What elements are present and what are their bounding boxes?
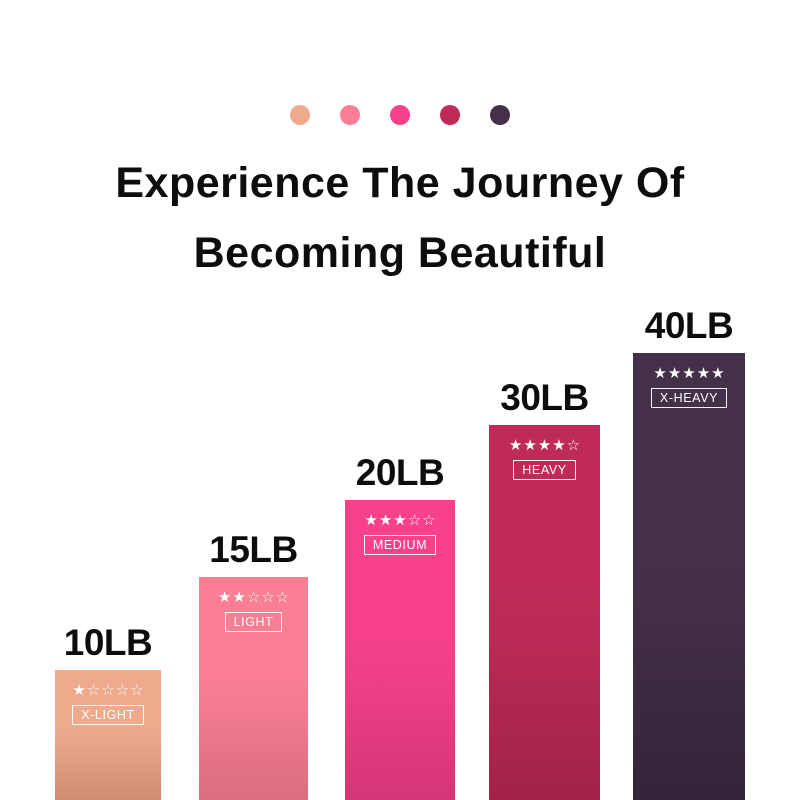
bar-20lb[interactable]: ★★★☆☆MEDIUM (345, 500, 455, 800)
resistance-bar-chart: 10LB★☆☆☆☆X-LIGHT15LB★★☆☆☆LIGHT20LB★★★☆☆M… (0, 280, 800, 800)
star-filled-icon: ★ (379, 513, 392, 528)
resistance-level-badge: HEAVY (513, 460, 575, 480)
star-filled-icon: ★ (364, 513, 377, 528)
star-empty-icon: ☆ (422, 513, 435, 528)
star-empty-icon: ☆ (101, 683, 114, 698)
star-empty-icon: ☆ (567, 438, 580, 453)
star-rating: ★☆☆☆☆ (72, 683, 143, 698)
bar-30lb[interactable]: ★★★★☆HEAVY (489, 425, 600, 800)
page-title-line-2: Becoming Beautiful (0, 218, 800, 288)
page-title-line-1: Experience The Journey Of (0, 148, 800, 218)
star-rating: ★★★☆☆ (364, 513, 435, 528)
star-filled-icon: ★ (509, 438, 522, 453)
bar-weight-label: 20LB (356, 454, 444, 492)
star-filled-icon: ★ (711, 366, 724, 381)
star-filled-icon: ★ (697, 366, 710, 381)
star-filled-icon: ★ (552, 438, 565, 453)
bar-column-30lb[interactable]: 30LB★★★★☆HEAVY (489, 379, 600, 800)
bar-content: ★★★☆☆MEDIUM (345, 500, 455, 555)
star-filled-icon: ★ (538, 438, 551, 453)
star-empty-icon: ☆ (261, 590, 274, 605)
page-title: Experience The Journey Of Becoming Beaut… (0, 148, 800, 288)
star-filled-icon: ★ (523, 438, 536, 453)
bar-weight-label: 15LB (209, 531, 297, 569)
star-filled-icon: ★ (232, 590, 245, 605)
bar-column-40lb[interactable]: 40LB★★★★★X-HEAVY (633, 307, 745, 800)
poster-root: Experience The Journey Of Becoming Beaut… (0, 0, 800, 800)
star-empty-icon: ☆ (87, 683, 100, 698)
star-filled-icon: ★ (72, 683, 85, 698)
bar-weight-label: 30LB (500, 379, 588, 417)
bar-content: ★★★★☆HEAVY (489, 425, 600, 480)
star-empty-icon: ☆ (276, 590, 289, 605)
decorative-dot-4 (440, 105, 460, 125)
star-empty-icon: ☆ (247, 590, 260, 605)
bar-weight-label: 40LB (645, 307, 733, 345)
bar-content: ★★☆☆☆LIGHT (199, 577, 308, 632)
bar-bottom-shadow (489, 583, 600, 800)
star-filled-icon: ★ (218, 590, 231, 605)
decorative-dot-1 (290, 105, 310, 125)
bar-bottom-shadow (633, 541, 745, 800)
bar-40lb[interactable]: ★★★★★X-HEAVY (633, 353, 745, 800)
bar-column-10lb[interactable]: 10LB★☆☆☆☆X-LIGHT (55, 624, 161, 800)
bar-15lb[interactable]: ★★☆☆☆LIGHT (199, 577, 308, 800)
star-rating: ★★★★☆ (509, 438, 580, 453)
star-rating: ★★☆☆☆ (218, 590, 289, 605)
decorative-dot-5 (490, 105, 510, 125)
bar-column-15lb[interactable]: 15LB★★☆☆☆LIGHT (199, 531, 308, 800)
star-filled-icon: ★ (668, 366, 681, 381)
star-filled-icon: ★ (653, 366, 666, 381)
bar-bottom-shadow (199, 671, 308, 800)
decorative-dot-3 (390, 105, 410, 125)
star-filled-icon: ★ (682, 366, 695, 381)
bar-content: ★★★★★X-HEAVY (633, 353, 745, 408)
bar-bottom-shadow (55, 725, 161, 800)
bar-weight-label: 10LB (64, 624, 152, 662)
resistance-level-badge: LIGHT (225, 612, 283, 632)
resistance-level-badge: X-HEAVY (651, 388, 727, 408)
star-filled-icon: ★ (393, 513, 406, 528)
resistance-level-badge: X-LIGHT (72, 705, 144, 725)
bar-content: ★☆☆☆☆X-LIGHT (55, 670, 161, 725)
bar-bottom-shadow (345, 626, 455, 800)
star-empty-icon: ☆ (130, 683, 143, 698)
bar-column-20lb[interactable]: 20LB★★★☆☆MEDIUM (345, 454, 455, 800)
star-empty-icon: ☆ (116, 683, 129, 698)
bar-10lb[interactable]: ★☆☆☆☆X-LIGHT (55, 670, 161, 800)
star-rating: ★★★★★ (653, 366, 724, 381)
resistance-level-badge: MEDIUM (364, 535, 436, 555)
decorative-dot-2 (340, 105, 360, 125)
star-empty-icon: ☆ (408, 513, 421, 528)
decorative-dot-row (0, 105, 800, 125)
